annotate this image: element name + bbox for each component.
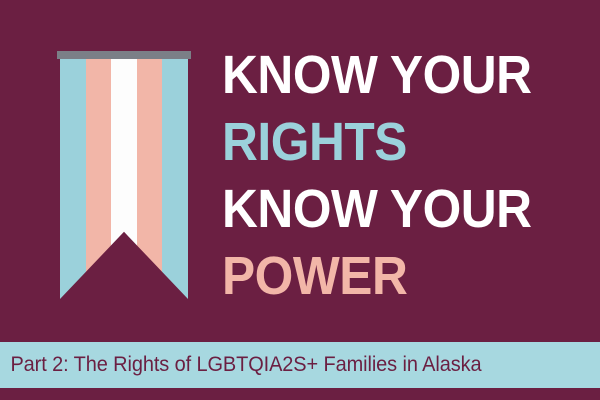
subtitle-banner: Part 2: The Rights of LGBTQIA2S+ Familie… — [0, 342, 600, 388]
stripe-light-blue-right — [162, 59, 188, 299]
stripe-pink-right — [137, 59, 163, 299]
headline-line-2: RIGHTS — [222, 109, 562, 176]
flag-rod — [57, 51, 191, 59]
headline-block: KNOW YOUR RIGHTS KNOW YOUR POWER — [222, 42, 592, 310]
trans-pride-flag-graphic — [57, 51, 191, 299]
flag-stripes — [60, 59, 188, 299]
headline-line-1: KNOW YOUR — [222, 42, 562, 109]
stripe-light-blue-left — [60, 59, 86, 299]
stripe-white-center — [111, 59, 137, 299]
poster-canvas: KNOW YOUR RIGHTS KNOW YOUR POWER Part 2:… — [0, 0, 600, 400]
headline-line-3: KNOW YOUR — [222, 176, 562, 243]
stripe-pink-left — [86, 59, 112, 299]
subtitle-text: Part 2: The Rights of LGBTQIA2S+ Familie… — [0, 353, 481, 377]
headline-line-4: POWER — [222, 243, 562, 310]
